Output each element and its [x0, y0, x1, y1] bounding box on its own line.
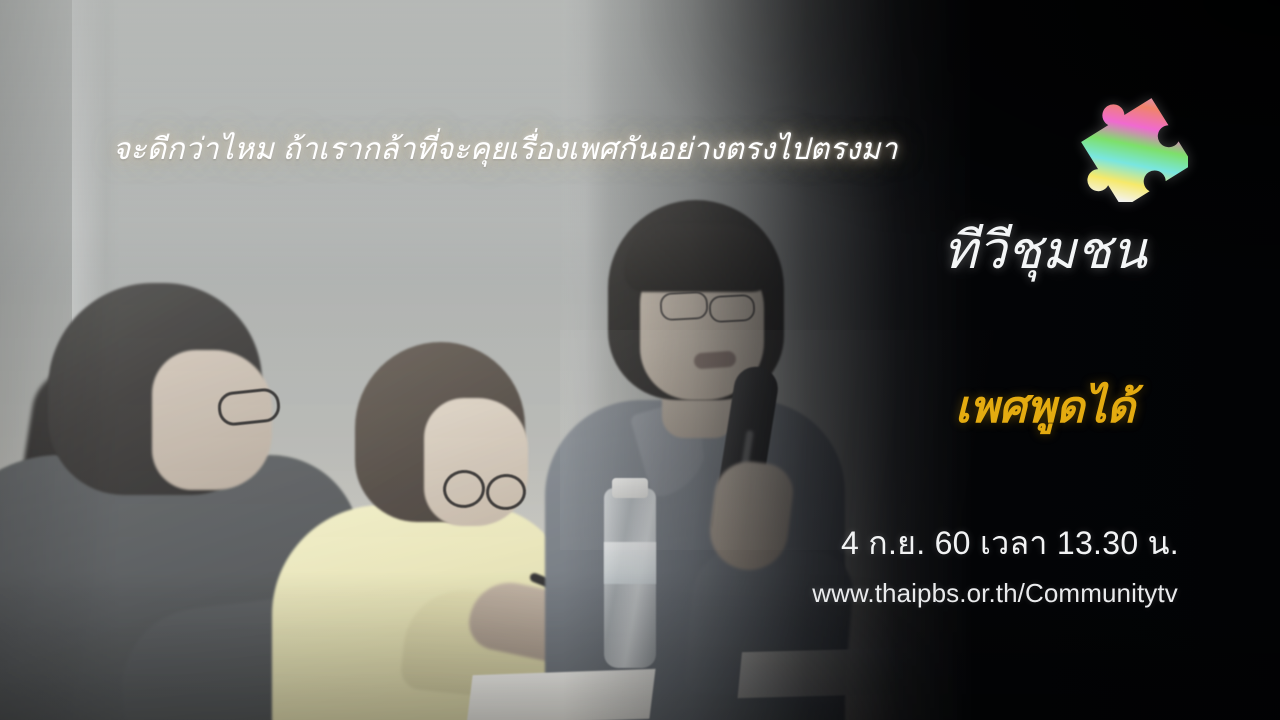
programme-tagline-text: เพศพูดได้: [880, 372, 1210, 442]
rainbow-puzzle-piece-icon: [1062, 98, 1188, 202]
promo-slide: จะดีกว่าไหม ถ้าเรากล้าที่จะคุยเรื่องเพศก…: [0, 0, 1280, 720]
water-bottle-cap: [612, 478, 648, 498]
water-bottle-label: [604, 542, 656, 584]
brand-name-text: ทีวีชุมชน: [880, 208, 1210, 291]
website-url-text: www.thaipbs.or.th/Communitytv: [760, 578, 1230, 609]
speaker-glasses-right-icon: [708, 294, 755, 323]
speaker-mouth: [693, 351, 736, 370]
speaker-glasses-left-icon: [659, 291, 708, 321]
speaker-hair-bangs: [624, 224, 774, 292]
broadcast-datetime-text: 4 ก.ย. 60 เวลา 13.30 น.: [790, 518, 1230, 569]
headline-text: จะดีกว่าไหม ถ้าเรากล้าที่จะคุยเรื่องเพศก…: [0, 126, 1010, 173]
